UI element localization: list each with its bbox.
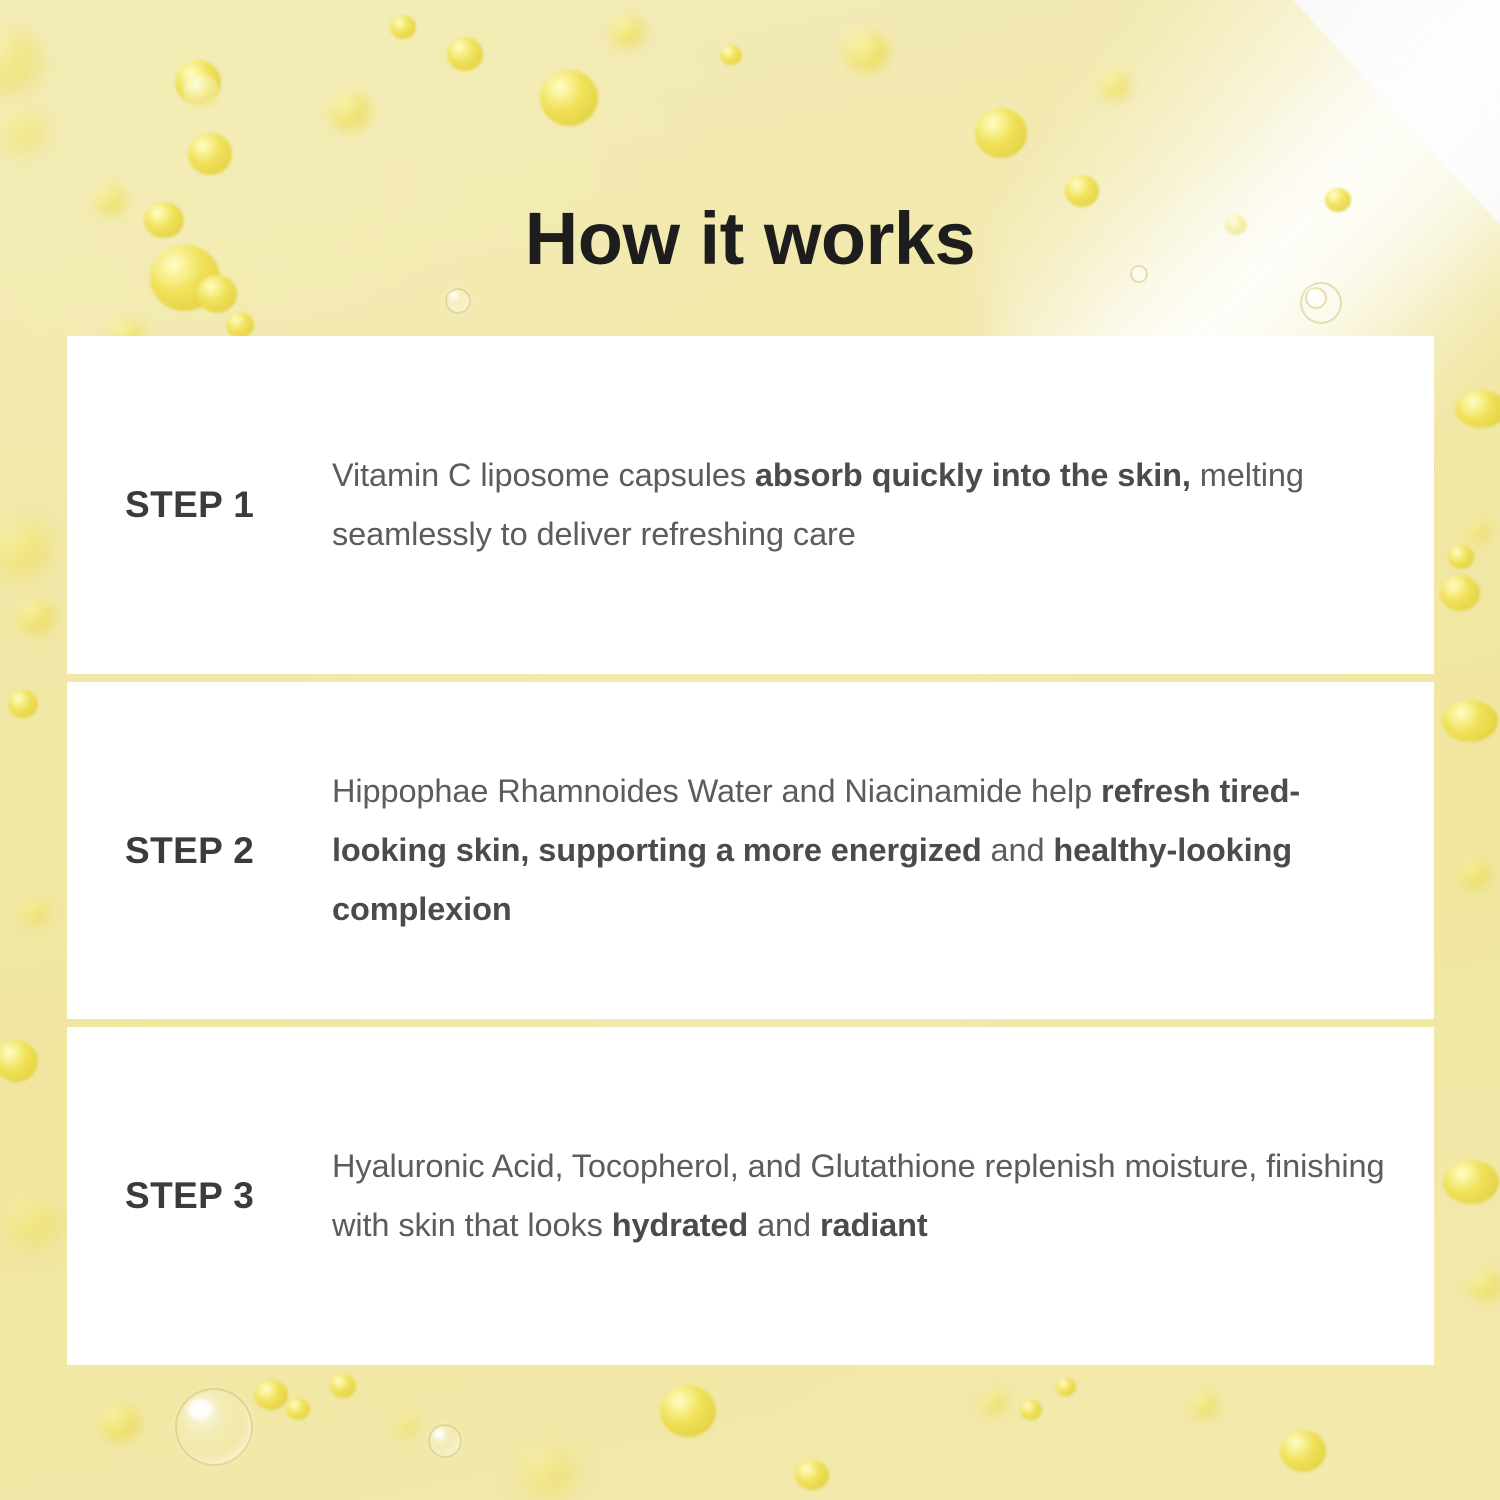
oil-droplet (1443, 1160, 1499, 1204)
oil-droplet (1100, 72, 1130, 100)
oil-droplet (540, 70, 598, 126)
serum-bubble (445, 288, 471, 314)
oil-droplet (1020, 1400, 1042, 1420)
oil-droplet (330, 1374, 356, 1398)
oil-droplet (330, 92, 370, 130)
step-card-3: STEP 3 Hyaluronic Acid, Tocopherol, and … (67, 1027, 1434, 1365)
step-card-2: STEP 2 Hippophae Rhamnoides Water and Ni… (67, 682, 1434, 1019)
plain-text: and (982, 832, 1054, 868)
oil-droplet (610, 15, 644, 47)
step-label-1: STEP 1 (67, 484, 332, 526)
page-title: How it works (0, 196, 1500, 281)
oil-droplet (188, 133, 232, 175)
oil-droplet (795, 1460, 829, 1490)
oil-droplet (254, 1380, 288, 1410)
serum-bubble (428, 1424, 462, 1458)
plain-text: Hippophae Rhamnoides Water and Niacinami… (332, 773, 1101, 809)
oil-droplet (1460, 860, 1490, 888)
oil-droplet (226, 312, 254, 338)
oil-droplet (845, 32, 889, 72)
oil-droplet (660, 1385, 716, 1437)
oil-droplet (1448, 545, 1474, 569)
oil-droplet (395, 1416, 417, 1436)
oil-droplet (1056, 1378, 1076, 1396)
oil-droplet (1440, 575, 1480, 611)
oil-droplet (183, 74, 219, 108)
oil-droplet (520, 1448, 574, 1496)
oil-droplet (975, 108, 1027, 158)
emphasis-text: hydrated (612, 1207, 748, 1243)
oil-droplet (447, 37, 483, 71)
emphasis-text: radiant (820, 1207, 928, 1243)
oil-droplet (1455, 390, 1500, 428)
serum-bubble (1305, 287, 1327, 309)
step-body-1: Vitamin C liposome capsules absorb quick… (332, 446, 1434, 564)
oil-droplet (100, 1405, 140, 1441)
oil-droplet (1190, 1392, 1218, 1418)
plain-text: and (748, 1207, 820, 1243)
step-label-2: STEP 2 (67, 830, 332, 872)
serum-bubble (175, 1388, 253, 1466)
oil-droplet (1280, 1430, 1326, 1472)
oil-droplet (8, 690, 38, 718)
oil-droplet (1442, 700, 1498, 742)
oil-droplet (22, 900, 48, 924)
oil-droplet (6, 1200, 56, 1246)
step-body-3: Hyaluronic Acid, Tocopherol, and Glutath… (332, 1137, 1434, 1255)
oil-droplet (1468, 1270, 1500, 1300)
emphasis-text: absorb quickly into the skin, (755, 457, 1191, 493)
step-body-2: Hippophae Rhamnoides Water and Niacinami… (332, 762, 1434, 939)
oil-droplet (1466, 520, 1490, 542)
steps-list: STEP 1 Vitamin C liposome capsules absor… (67, 336, 1434, 1365)
oil-droplet (980, 1390, 1006, 1414)
oil-droplet (390, 15, 416, 39)
oil-droplet (720, 45, 742, 65)
step-card-1: STEP 1 Vitamin C liposome capsules absor… (67, 336, 1434, 674)
oil-droplet (18, 600, 54, 634)
plain-text: Vitamin C liposome capsules (332, 457, 755, 493)
oil-droplet (0, 110, 44, 152)
step-label-3: STEP 3 (67, 1175, 332, 1217)
oil-droplet (286, 1398, 310, 1420)
